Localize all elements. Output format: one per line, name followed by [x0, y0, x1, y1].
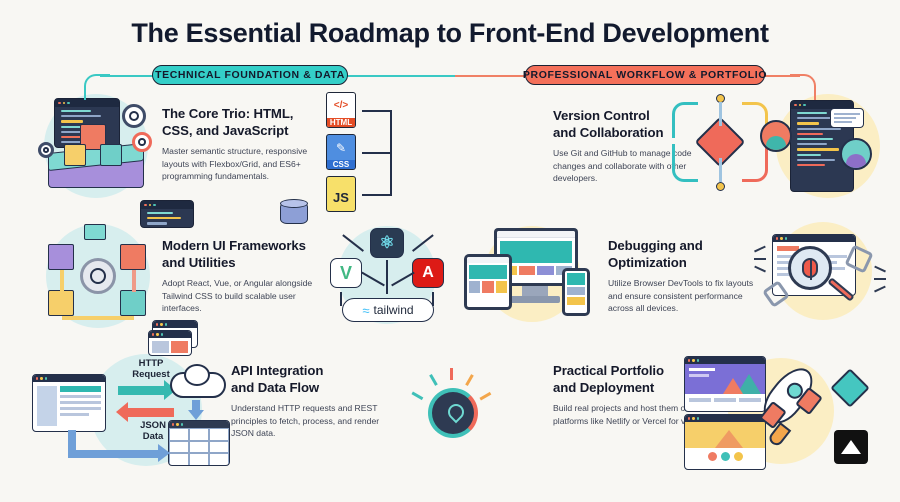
cube-yellow-icon — [48, 290, 74, 316]
css-label: CSS — [327, 160, 355, 169]
section-title: The Core Trio: HTML, CSS, and JavaScript — [162, 106, 314, 139]
database-table-icon — [168, 420, 230, 466]
browser-window-icon — [32, 374, 106, 432]
section-title-line1: API Integration — [231, 363, 323, 378]
section-body: Adopt React, Vue, or Angular alongside T… — [162, 277, 322, 314]
avatar — [840, 138, 872, 170]
section-title-line1: Practical Portfolio — [553, 363, 664, 378]
section-body: Utilize Browser DevTools to fix layouts … — [608, 277, 760, 314]
section-debugging: Debugging and Optimization Utilize Brows… — [608, 238, 760, 315]
section-body: Master semantic structure, responsive la… — [162, 145, 314, 182]
netlify-icon — [830, 368, 870, 408]
website-mockup-icon — [684, 356, 766, 412]
tailwind-icon: ≈ tailwind — [342, 298, 434, 322]
rocket-badge-illustration — [406, 366, 498, 462]
tablet-icon — [464, 254, 512, 310]
html-label: HTML — [327, 118, 355, 127]
collaboration-illustration — [758, 86, 894, 206]
page-title: The Essential Roadmap to Front-End Devel… — [0, 18, 900, 49]
js-label: JS — [327, 190, 355, 211]
section-title-line2: CSS, and JavaScript — [162, 123, 288, 138]
html-file-icon: </> HTML — [326, 92, 356, 128]
gear-icon — [132, 132, 152, 152]
section-body: Understand HTTP requests and REST princi… — [231, 402, 381, 439]
ui-utilities-illustration — [32, 218, 164, 336]
arrow-right-icon — [118, 386, 164, 395]
bug-icon — [802, 258, 818, 278]
cube-yellow-icon — [64, 144, 86, 166]
git-branch-illustration — [668, 92, 772, 198]
section-title-line2: and Deployment — [553, 380, 654, 395]
section-ui-frameworks: Modern UI Frameworks and Utilities Adopt… — [162, 238, 322, 315]
avatar — [760, 120, 792, 152]
connector-elbow-right — [790, 74, 816, 100]
section-api-integration: API Integration and Data Flow Understand… — [231, 363, 381, 440]
banner-professional-workflow: PROFESSIONAL WORKFLOW & PORTFOLIO — [525, 65, 765, 85]
section-title-line1: Debugging and — [608, 238, 703, 253]
api-flow-illustration: HTTP Request JSON Data — [28, 346, 234, 474]
section-title-line1: The Core Trio: HTML, — [162, 106, 293, 121]
gear-icon — [38, 142, 54, 158]
vue-icon: V — [330, 258, 362, 288]
cube-teal-icon — [120, 290, 146, 316]
html-glyph: </> — [327, 93, 355, 118]
css-glyph: ✎ — [327, 135, 355, 160]
css-file-icon: ✎ CSS — [326, 134, 356, 170]
connector-elbow-left — [84, 74, 110, 100]
core-trio-illustration — [30, 86, 160, 206]
vercel-icon — [834, 430, 868, 464]
deployment-illustration — [676, 352, 896, 482]
magnifier-icon — [788, 246, 832, 290]
section-title-line2: and Collaboration — [553, 125, 663, 140]
section-title-line2: and Data Flow — [231, 380, 319, 395]
chat-bubble-icon — [830, 108, 864, 128]
tailwind-label: tailwind — [374, 303, 414, 317]
file-badges-illustration: </> HTML ✎ CSS JS — [320, 92, 410, 200]
arrow-left-icon — [128, 408, 174, 417]
phone-icon — [562, 268, 590, 316]
cube-small-icon — [84, 224, 106, 240]
tailwind-glyph: ≈ — [362, 303, 369, 318]
section-title: Debugging and Optimization — [608, 238, 760, 271]
website-mockup-icon — [684, 414, 766, 470]
node-bottom-icon — [716, 182, 725, 191]
section-title-line1: Version Control — [553, 108, 650, 123]
responsive-devices-illustration — [458, 222, 606, 330]
section-title: Modern UI Frameworks and Utilities — [162, 238, 322, 271]
react-icon: ⚛ — [370, 228, 404, 258]
angular-icon: A — [412, 258, 444, 288]
section-title: API Integration and Data Flow — [231, 363, 381, 396]
cube-red-icon — [120, 244, 146, 270]
section-title-line2: Optimization — [608, 255, 687, 270]
cube-purple-icon — [48, 244, 74, 270]
section-title-line2: and Utilities — [162, 255, 235, 270]
js-file-icon: JS — [326, 176, 356, 212]
cube-teal-icon — [100, 144, 122, 166]
banner-technical-foundation: TECHNICAL FOUNDATION & DATA — [152, 65, 348, 85]
debugging-illustration — [752, 218, 894, 334]
section-title-line1: Modern UI Frameworks — [162, 238, 306, 253]
database-icon — [280, 198, 310, 230]
infographic-poster: The Essential Roadmap to Front-End Devel… — [0, 0, 900, 502]
section-core-trio: The Core Trio: HTML, CSS, and JavaScript… — [162, 106, 314, 183]
frameworks-illustration: ⚛ V A ≈ tailwind — [318, 226, 456, 330]
gear-icon — [80, 258, 116, 294]
browser-window-icon — [148, 330, 192, 356]
rocket-icon — [428, 388, 478, 438]
gear-icon — [122, 104, 146, 128]
